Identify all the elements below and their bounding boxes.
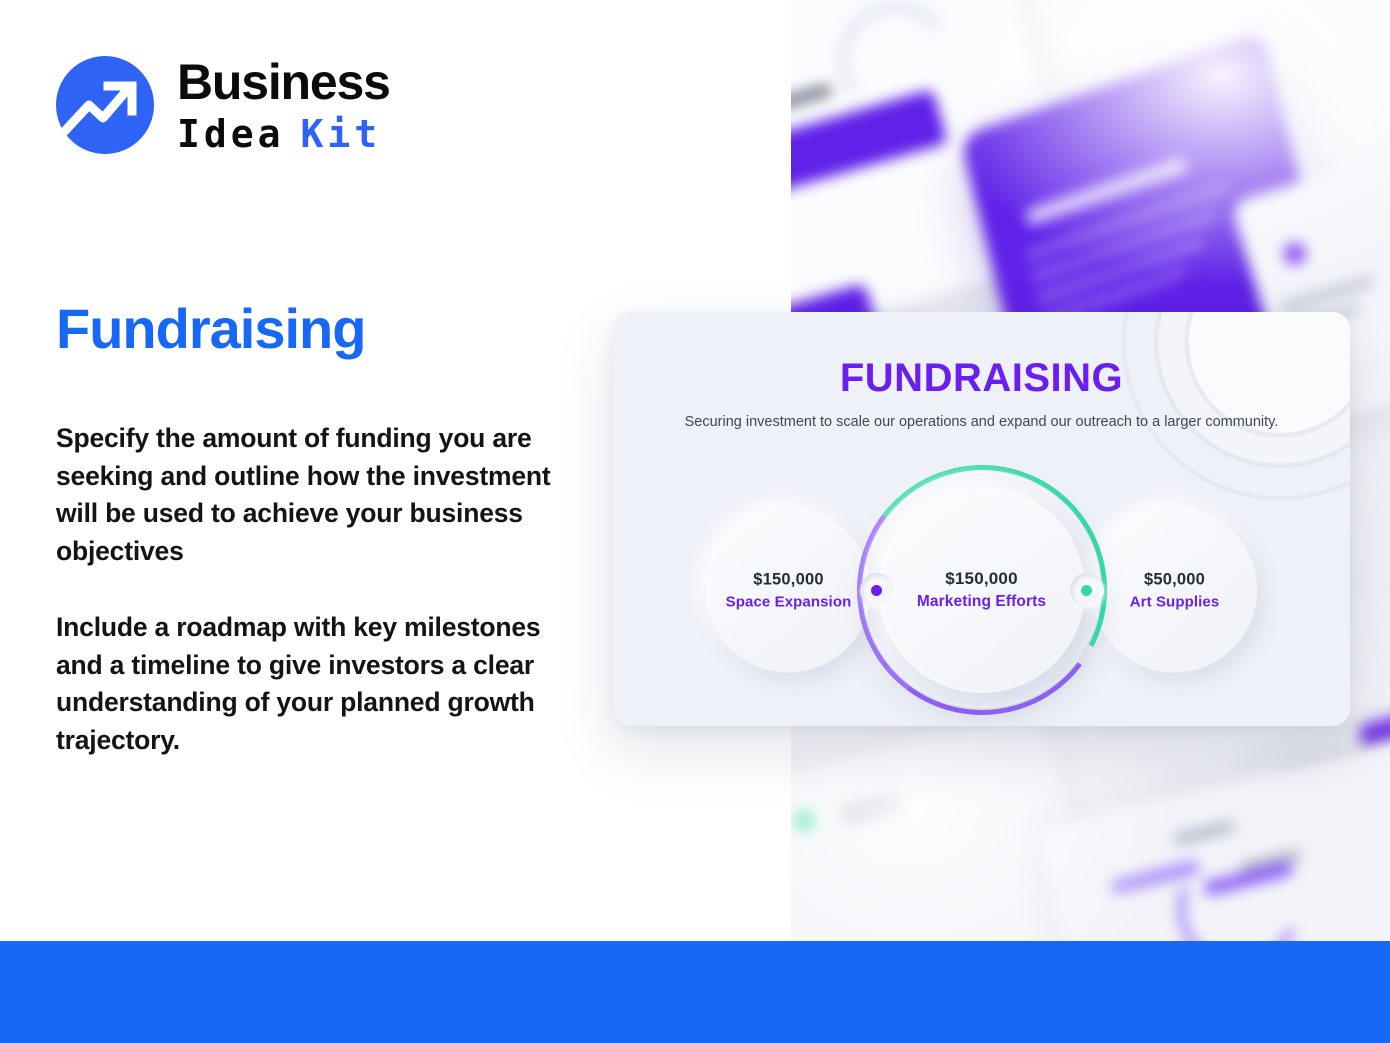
description-paragraph-2: Include a roadmap with key milestones an… [56, 609, 566, 760]
connector-dot-right [1070, 573, 1104, 607]
page-title: Fundraising [56, 296, 365, 361]
funding-amount: $50,000 [1144, 570, 1205, 589]
growth-arrow-icon [56, 56, 154, 154]
description-paragraph-1: Specify the amount of funding you are se… [56, 420, 566, 571]
funding-circles-group: $150,000 Space Expansion $50,000 Art Sup… [613, 490, 1350, 690]
funding-amount: $150,000 [945, 569, 1018, 589]
brand-name-line1: Business [177, 57, 390, 107]
fundraising-preview-card: FUNDRAISING Securing investment to scale… [613, 312, 1350, 726]
funding-label: Marketing Efforts [917, 593, 1046, 611]
brand-name-line2: IdeaKit [177, 115, 390, 153]
connector-dot-left [860, 573, 894, 607]
card-subtitle: Securing investment to scale our operati… [613, 412, 1350, 433]
funding-circle-art-supplies[interactable]: $50,000 Art Supplies [1092, 508, 1257, 673]
slide-page: FUNDRAISING Securing investment to scale… [0, 0, 1390, 1043]
brand-wordmark: Business IdeaKit [177, 57, 390, 153]
funding-circle-space-expansion[interactable]: $150,000 Space Expansion [706, 508, 871, 673]
funding-label: Space Expansion [726, 593, 852, 610]
card-title: FUNDRAISING [613, 356, 1350, 401]
connector-dot-right-icon [1081, 585, 1092, 596]
brand-logo[interactable]: Business IdeaKit [56, 56, 390, 154]
funding-label: Art Supplies [1130, 593, 1220, 610]
brand-name-kit: Kit [301, 112, 382, 156]
brand-name-idea: Idea [177, 112, 285, 156]
concentric-rings-decoration [1115, 312, 1350, 507]
connector-dot-left-icon [871, 585, 882, 596]
footer-bar [0, 941, 1390, 1043]
funding-amount: $150,000 [753, 570, 823, 589]
funding-circle-marketing-efforts[interactable]: $150,000 Marketing Efforts [879, 487, 1085, 693]
